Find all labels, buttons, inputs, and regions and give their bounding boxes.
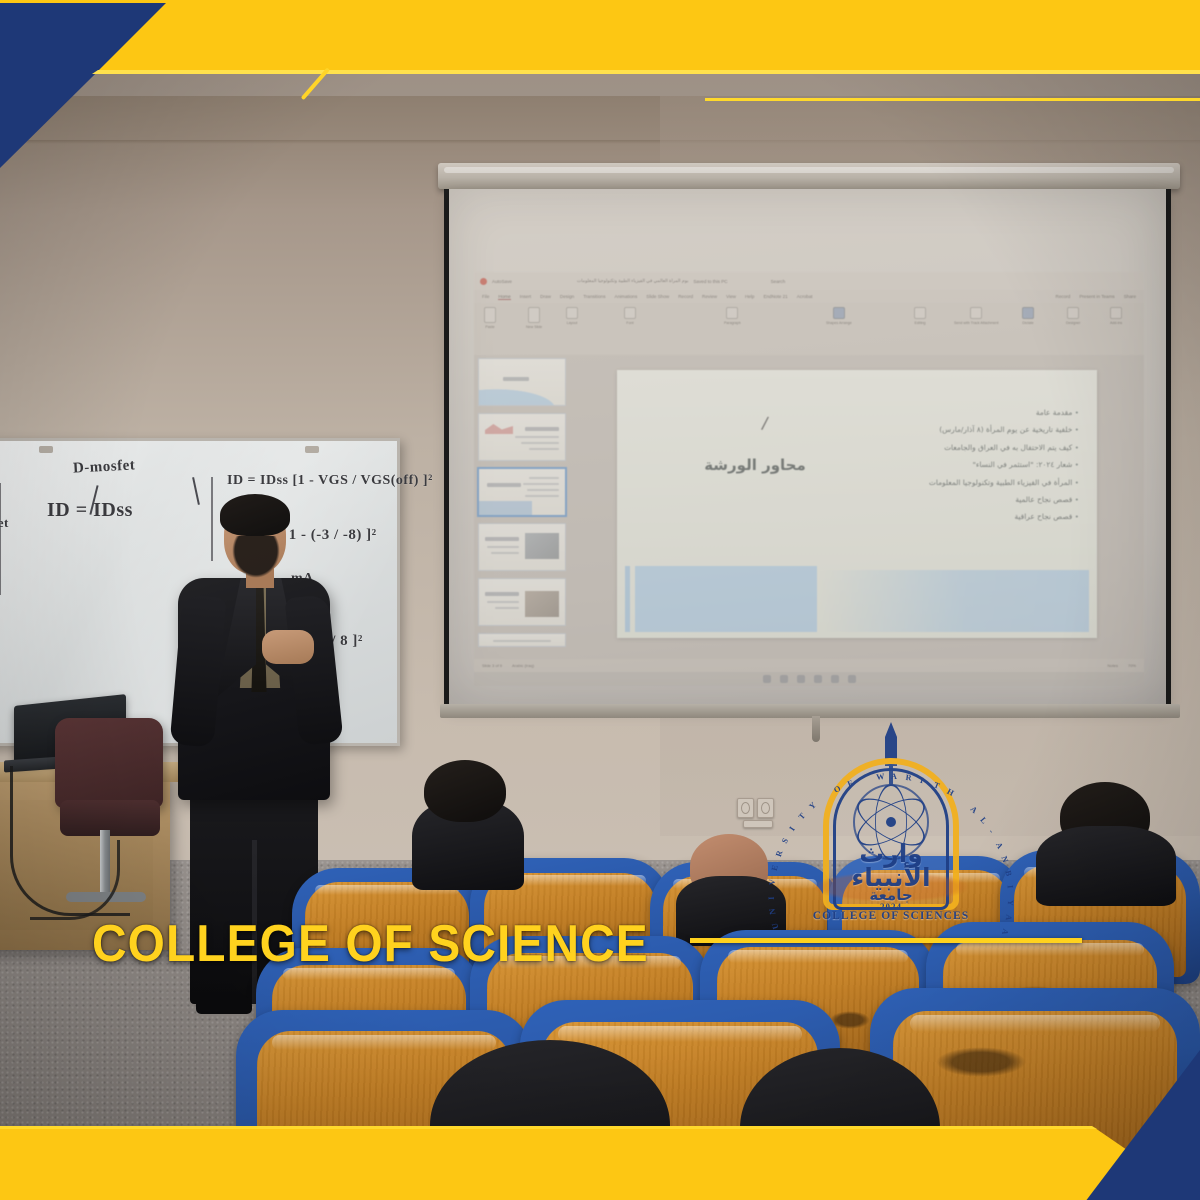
thumb-line (529, 448, 559, 450)
presenter-hair (220, 494, 290, 536)
tab-design[interactable]: Design (560, 294, 574, 299)
top-hairline (0, 0, 1200, 3)
powerpoint-body: / محاور الورشة مقدمة عامة خلفية تاريخية … (474, 355, 1144, 672)
whiteboard-clip-right (305, 446, 319, 453)
ribbon-group-clipboard[interactable]: Paste (484, 307, 496, 329)
wall-socket-left (737, 798, 754, 818)
ribbon-group-designer[interactable]: Designer (1066, 307, 1080, 325)
paste-label: Paste (485, 325, 494, 329)
wall-socket-right (757, 798, 774, 818)
page-title: COLLEGE OF SCIENCE (92, 914, 649, 974)
tab-view[interactable]: View (726, 294, 736, 299)
slide-title: محاور الورشة (655, 456, 855, 474)
slide-accent-band-right (817, 570, 1089, 632)
thumb-title-bar (487, 483, 521, 487)
university-logo: UNIVERSITY OF WARITH AL-ANBIYAA وارث الأ… (805, 722, 977, 928)
taskbar-powerpoint-icon[interactable] (831, 675, 839, 683)
logo-arc-char: F (846, 778, 855, 789)
tab-draw[interactable]: Draw (540, 294, 551, 299)
designer-icon[interactable] (1067, 307, 1079, 319)
slide-bullet-2: خلفية تاريخية عن يوم المرأة (٨ آذار/مارس… (829, 421, 1079, 438)
thumb-line (487, 546, 519, 548)
attendee-head-1 (424, 760, 506, 822)
logo-arc-char: A (891, 772, 899, 781)
ribbon-group-dictate[interactable]: Dictate (1022, 307, 1034, 325)
tab-animations[interactable]: Animations (615, 294, 638, 299)
microphone-icon[interactable] (1022, 307, 1034, 319)
logo-arc-char: V (768, 877, 778, 885)
slide-editing-area[interactable]: / محاور الورشة مقدمة عامة خلفية تاريخية … (574, 358, 1140, 650)
taskbar-explorer-icon[interactable] (797, 675, 805, 683)
document-name: يوم المرأة العالمي في الفيزياء الطبية وت… (577, 278, 688, 284)
whiteboard-note-4: [ 1 - (-3 / -8) ]² (279, 527, 377, 544)
send-attachment-icon[interactable] (970, 307, 982, 319)
powerpoint-ribbon[interactable]: Paste New Slide Layout Font Paragraph (474, 303, 1144, 355)
logo-arc-char: W (876, 772, 887, 782)
thumb-line (493, 640, 551, 642)
thumb-line (491, 552, 519, 554)
thumb-line (525, 495, 559, 497)
bottom-yellow-band (0, 1128, 1200, 1200)
ribbon-group-slides[interactable]: New Slide (526, 307, 542, 329)
layout-label: Layout (567, 321, 578, 325)
powerpoint-logo-icon (480, 278, 487, 285)
thumb-title-bar (525, 427, 559, 431)
whiteboard-clip-left (39, 446, 53, 453)
tab-acrobat[interactable]: Acrobat (797, 294, 813, 299)
paragraph-icon[interactable] (726, 307, 738, 319)
paste-icon[interactable] (484, 307, 496, 323)
tab-help[interactable]: Help (745, 294, 754, 299)
thumb-image (525, 533, 559, 559)
slide-accent-band (635, 566, 817, 632)
designer-label: Designer (1066, 321, 1080, 325)
presenter-beard (232, 536, 280, 578)
tab-record[interactable]: Record (678, 294, 693, 299)
addins-icon[interactable] (1110, 307, 1122, 319)
logo-arc-char: Y (1006, 900, 1015, 908)
thumb-wave (479, 386, 565, 405)
slide-thumbnail-1[interactable] (478, 358, 566, 406)
tab-review[interactable]: Review (702, 294, 717, 299)
presenter-hands (262, 630, 314, 664)
thumb-title-bar (503, 377, 529, 381)
logo-arc-char: O (832, 783, 843, 795)
whiteboard-divider-2 (211, 477, 213, 561)
tab-transitions[interactable]: Transitions (583, 294, 605, 299)
send-attachment-label: Send with Track Attachment (954, 321, 999, 325)
ribbon-group-addins[interactable]: Add-ins (1110, 307, 1122, 325)
new-slide-icon[interactable] (528, 307, 540, 323)
screen-bottom-bar (440, 704, 1180, 718)
thumb-line (529, 477, 559, 479)
powerpoint-window[interactable]: AutoSave يوم المرأة العالمي في الفيزياء … (474, 272, 1144, 672)
slide-bullet-1: مقدمة عامة (829, 404, 1079, 421)
slide-bullet-4: شعار ٢٠٢٤: "استثمر في النساء" (829, 456, 1079, 473)
slide-bullet-5: المرأة في الفيزياء الطبية وتكنولوجيا الم… (829, 474, 1079, 491)
logo-arc-char: R (905, 773, 914, 783)
share-button[interactable]: Share (1124, 294, 1136, 299)
housing-highlight (444, 167, 1174, 173)
tab-home[interactable]: Home (498, 294, 510, 300)
thumb-line (495, 607, 519, 609)
slide-thumbnail-2[interactable] (478, 413, 566, 461)
thumb-line (521, 442, 559, 444)
powerpoint-status-bar[interactable]: Slide 3 of 9 Arabic (Iraq) Notes 70% (474, 659, 1144, 672)
tab-endnote[interactable]: EndNote 21 (763, 294, 787, 299)
ribbon-group-send-attachment[interactable]: Send with Track Attachment (954, 307, 999, 325)
taskbar-search-icon[interactable] (780, 675, 788, 683)
thumb-title-bar (485, 537, 519, 541)
slide-bullet-6: قصص نجاح عالمية (829, 491, 1079, 508)
thumb-line (527, 489, 559, 491)
record-button[interactable]: Record (1056, 294, 1071, 299)
shapes-arrange-label: Shapes Arrange (826, 321, 852, 325)
notes-button[interactable]: Notes (1108, 663, 1118, 668)
present-in-teams-button[interactable]: Present in Teams (1079, 294, 1114, 299)
ribbon-group-editing[interactable]: Editing (914, 307, 926, 325)
slide-thumbnail-3-active[interactable] (478, 468, 566, 516)
logo-arc-char: I (919, 776, 926, 786)
poster-canvas: ]² D-mosfet E-mosfet ID = IDss ID = IDss… (0, 0, 1200, 1200)
title-underline-rule (690, 938, 1082, 943)
thumb-title-bar (485, 592, 519, 596)
font-label: Font (626, 321, 633, 325)
tab-file[interactable]: File (482, 294, 489, 299)
slide-bullet-3: كيف يتم الاحتفال به في العراق والجامعات (829, 439, 1079, 456)
slide-thumbnail-5[interactable] (478, 578, 566, 626)
thumb-line (515, 436, 559, 438)
logo-arc-char: H (945, 787, 956, 799)
thumb-line (523, 483, 559, 485)
font-icon[interactable] (624, 307, 636, 319)
slide-slash-mark: / (760, 414, 770, 437)
search-input[interactable]: Search (771, 279, 786, 284)
slide-thumbnail-6[interactable] (478, 633, 566, 647)
thumb-blue-band (479, 501, 532, 515)
wall-socket-far-right (743, 820, 773, 828)
save-location: Saved to this PC (693, 279, 727, 284)
tab-insert[interactable]: Insert (520, 294, 532, 299)
addins-label: Add-ins (1110, 321, 1122, 325)
dictate-label: Dictate (1022, 321, 1033, 325)
editing-label: Editing (915, 321, 926, 325)
lecture-hall-photo: ]² D-mosfet E-mosfet ID = IDss ID = IDss… (0, 0, 1200, 1200)
ribbon-group-drawing[interactable]: Shapes Arrange (826, 307, 852, 325)
editing-icon[interactable] (914, 307, 926, 319)
seat-scuff (936, 1047, 1026, 1077)
tab-slide-show[interactable]: Slide Show (646, 294, 669, 299)
powerpoint-ribbon-tabs[interactable]: File Home Insert Draw Design Transitions… (474, 290, 1144, 303)
logo-arc-char: A (1003, 914, 1013, 923)
whiteboard-note-emosfet: E-mosfet (0, 515, 9, 531)
logo-college-text: COLLEGE OF SCIENCES (811, 910, 971, 922)
current-slide[interactable]: / محاور الورشة مقدمة عامة خلفية تاريخية … (617, 370, 1097, 638)
slide-thumbnail-4[interactable] (478, 523, 566, 571)
ribbon-group-paragraph[interactable]: Paragraph (724, 307, 741, 325)
autosave-label[interactable]: AutoSave (492, 279, 512, 284)
language-indicator[interactable]: Arabic (Iraq) (512, 663, 534, 668)
windows-taskbar[interactable] (474, 672, 1144, 686)
logo-arc-char: Y (807, 799, 819, 811)
whiteboard-note-1: D-mosfet (73, 457, 136, 477)
thumb-line (487, 601, 519, 603)
bottom-hairline (0, 1126, 1200, 1129)
slide-bullet-list: مقدمة عامة خلفية تاريخية عن يوم المرأة (… (829, 404, 1079, 526)
slide-bullet-7: قصص نجاح عراقية (829, 508, 1079, 525)
top-yellow-band (0, 3, 1200, 73)
logo-arc-char: I (767, 895, 776, 900)
ribbon-group-font[interactable]: Font (624, 307, 636, 325)
attendee-body-3 (1036, 826, 1176, 906)
logo-arc-char: I (1006, 885, 1015, 891)
shapes-icon[interactable] (833, 307, 845, 319)
top-yellow-band-rule (0, 70, 1200, 74)
paragraph-label: Paragraph (724, 321, 741, 325)
powerpoint-title-bar: AutoSave يوم المرأة العالمي في الفيزياء … (474, 272, 1144, 290)
new-slide-label: New Slide (526, 325, 542, 329)
logo-arc-char: T (933, 780, 943, 791)
slide-indicator: Slide 3 of 9 (482, 663, 502, 668)
ribbon-group-layout[interactable]: Layout (566, 307, 578, 325)
logo-arabic-name: وارث الأنبياء جامعة (817, 842, 965, 902)
zoom-level[interactable]: 70% (1128, 663, 1136, 668)
whiteboard-note-3: ID = IDss [1 - VGS / VGS(off) ]² (227, 473, 433, 489)
screen-edge-right (1166, 189, 1171, 711)
logo-arc-char: N (767, 906, 777, 915)
layout-icon[interactable] (566, 307, 578, 319)
logo-arabic-secondary: جامعة (817, 888, 965, 902)
top-right-rule (705, 98, 1200, 101)
logo-arabic-main: وارث الأنبياء (851, 839, 930, 892)
slide-thumbnail-panel[interactable] (478, 358, 570, 658)
taskbar-start-icon[interactable] (763, 675, 771, 683)
whiteboard-divider-1 (0, 483, 1, 595)
taskbar-word-icon[interactable] (848, 675, 856, 683)
thumb-red-shape (485, 424, 513, 434)
projector-screen-housing (438, 163, 1180, 189)
taskbar-browser-icon[interactable] (814, 675, 822, 683)
slide-accent-left (625, 566, 630, 632)
thumb-image (525, 591, 559, 617)
